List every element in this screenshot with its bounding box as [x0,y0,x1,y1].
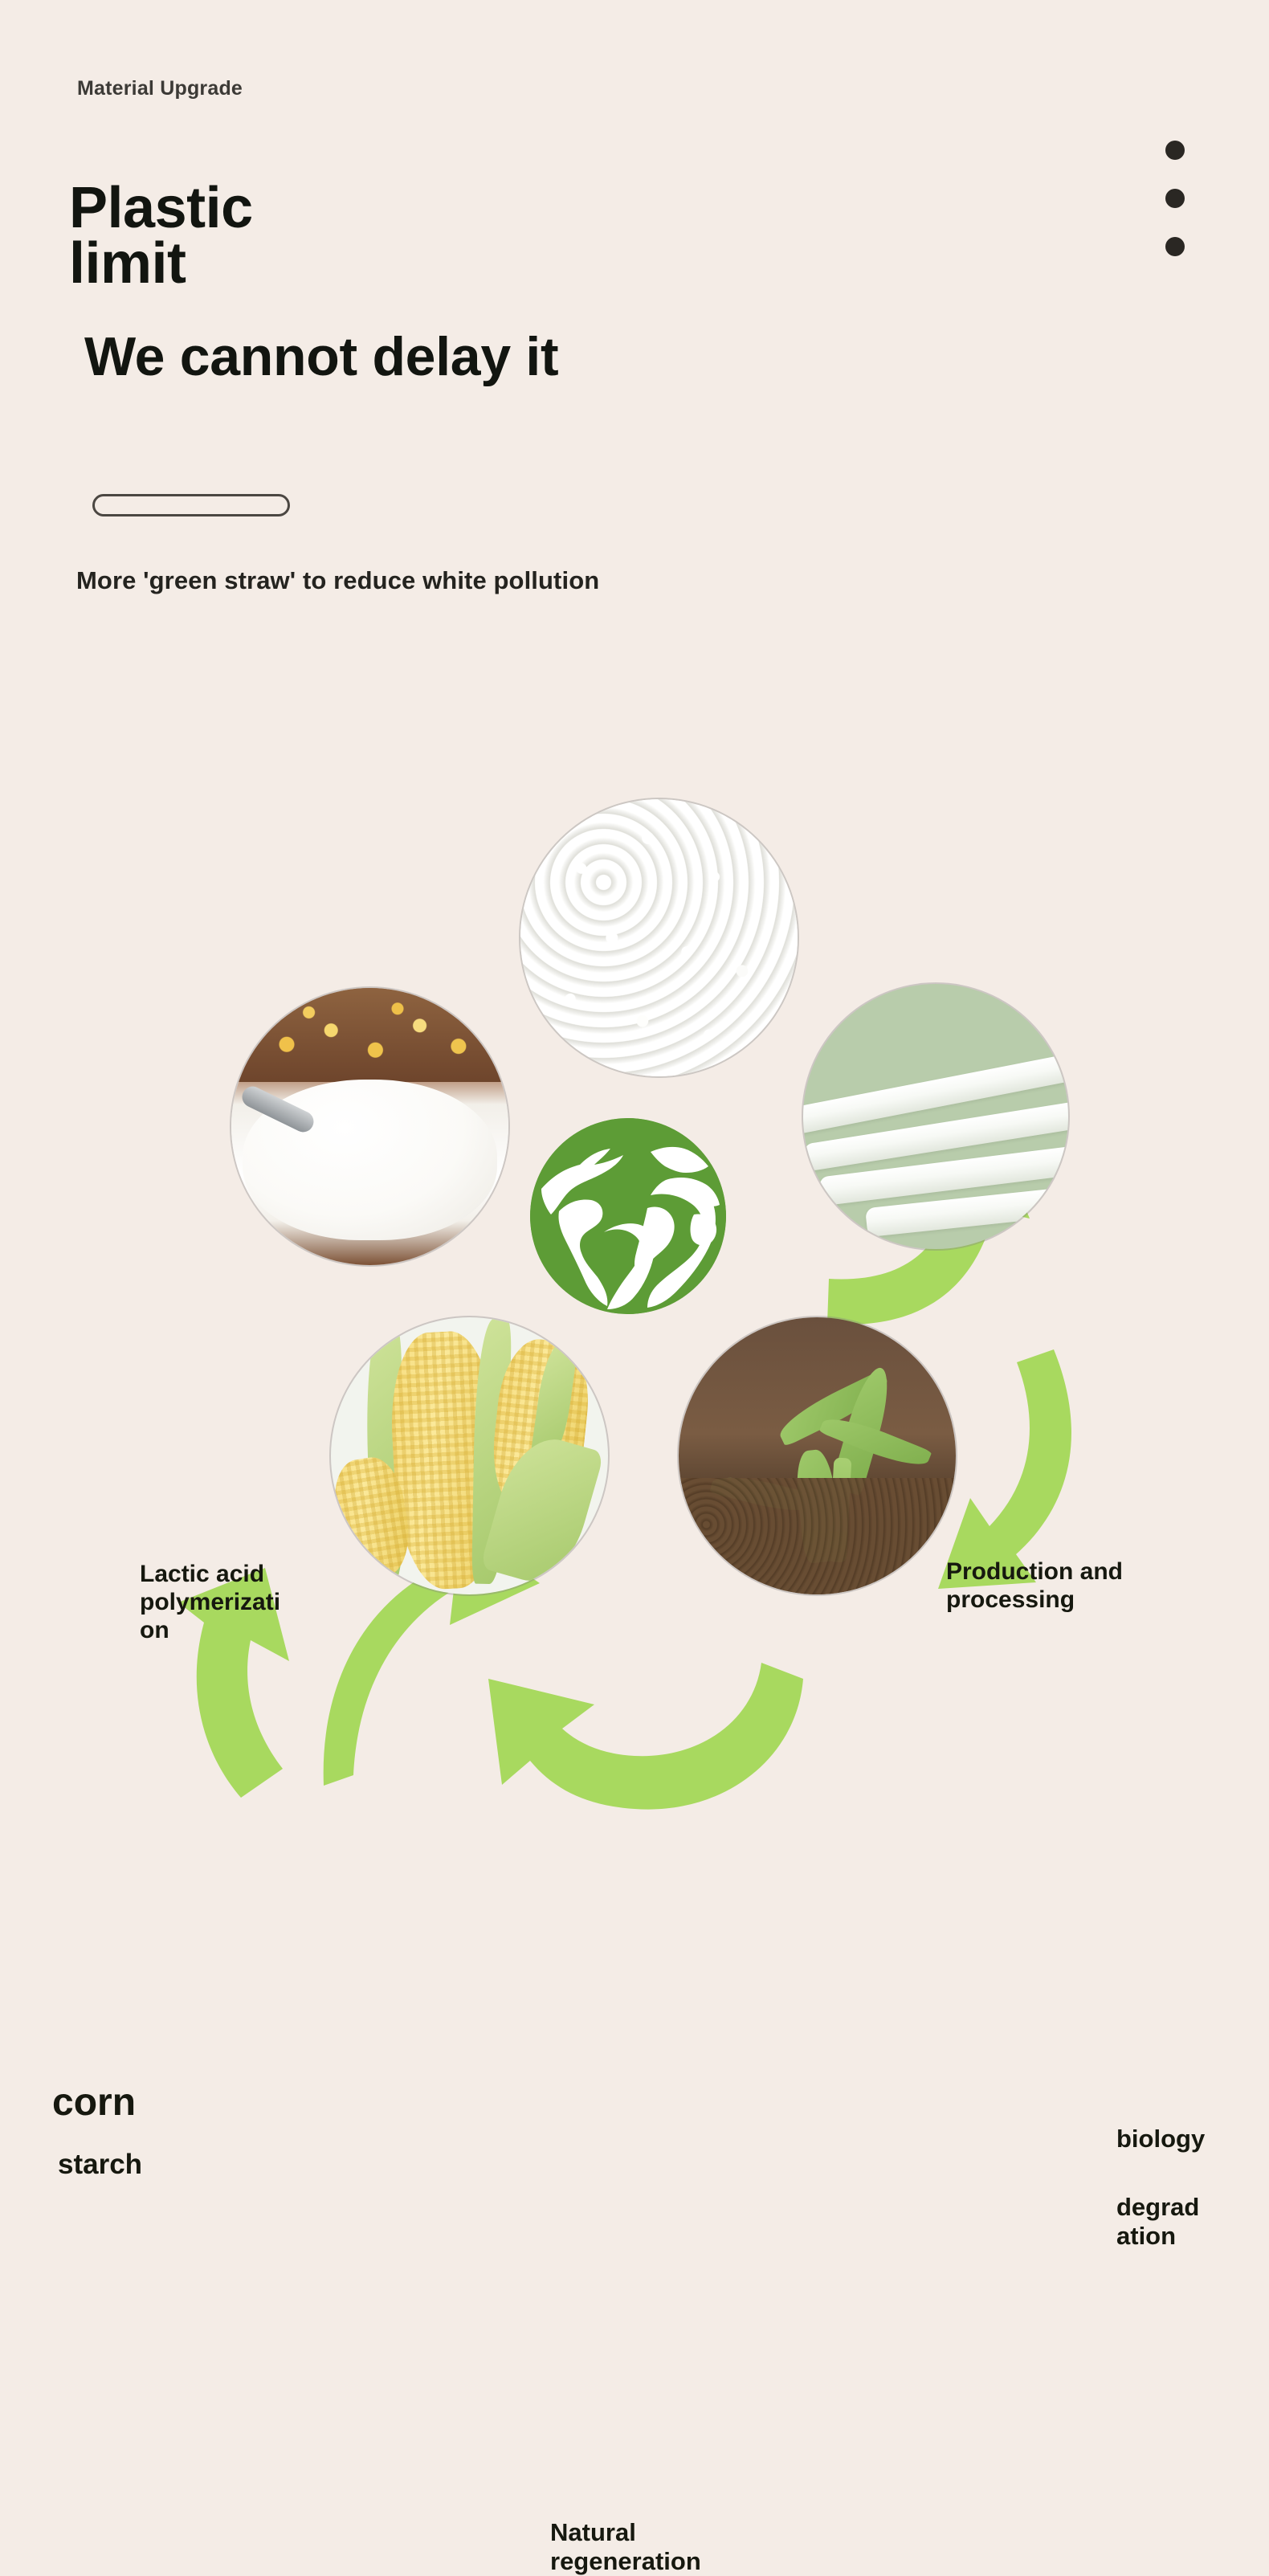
globe-icon [530,1118,726,1314]
arrow-straws-to-seedling [938,1349,1071,1589]
label-line: regeneration [550,2547,831,2576]
arrow-seedling-to-corn [488,1663,803,1810]
label-line: processing [946,1586,1211,1615]
menu-dots[interactable] [1165,141,1185,256]
corn-starch-photo[interactable] [231,988,508,1265]
label-degradation: degrad ation [1116,2193,1249,2251]
label-lactic-acid-polymerization: Lactic acid polymerizati on [140,1561,357,1644]
label-biology: biology [1116,2125,1205,2153]
soil-texture [679,1478,956,1594]
headline-line-1: Plastic [69,176,253,240]
label-line: Production and [946,1558,1211,1586]
dot-icon [1165,237,1185,256]
eyebrow-label: Material Upgrade [77,77,243,100]
dot-icon [1165,141,1185,160]
page-title: Plastic limit [69,181,253,292]
subheading: More 'green straw' to reduce white pollu… [76,566,599,595]
corn-kernels-texture [231,988,508,1082]
poster-page: Material Upgrade Plastic limit We cannot… [0,0,1269,1966]
seedling-photo[interactable] [679,1317,956,1594]
label-line: on [140,1617,357,1645]
label-line: polymerizati [140,1589,357,1617]
label-line: Lactic acid [140,1561,357,1589]
straws-photo[interactable] [803,984,1068,1249]
dot-icon [1165,189,1185,208]
label-production-and-processing: Production and processing [946,1558,1211,1615]
label-starch: starch [58,2149,142,2182]
label-line: Natural [550,2518,831,2547]
page-subtitle-large: We cannot delay it [84,329,558,384]
label-line: degrad [1116,2193,1249,2222]
lifecycle-diagram: Lactic acid polymerizati on Production a… [0,755,1269,1880]
headline-line-2: limit [69,231,186,296]
label-natural-regeneration: Natural regeneration [550,2518,831,2576]
divider-pill [92,494,290,516]
plastic-pellets-photo[interactable] [520,799,798,1076]
corn-cobs-photo[interactable] [331,1317,608,1594]
label-line: ation [1116,2222,1249,2251]
label-corn: corn [52,2080,136,2125]
